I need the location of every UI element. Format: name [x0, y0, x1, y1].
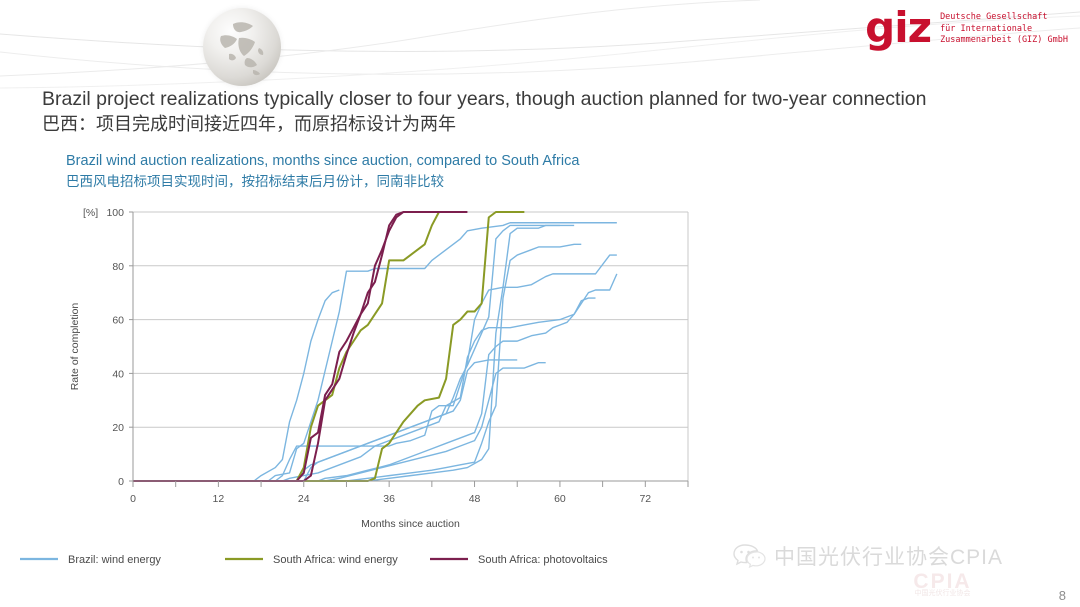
globe-graphic — [203, 8, 281, 86]
giz-logo: giz Deutsche Gesellschaft für Internatio… — [865, 8, 1068, 48]
svg-text:Months since auction: Months since auction — [361, 518, 460, 530]
svg-text:Rate of completion: Rate of completion — [69, 303, 81, 391]
chart-container: 0204060801000122436486072[%]Rate of comp… — [0, 196, 760, 586]
svg-text:0: 0 — [118, 476, 124, 488]
svg-text:[%]: [%] — [83, 207, 98, 219]
giz-tagline: Deutsche Gesellschaft für Internationale… — [940, 9, 1068, 47]
axes — [129, 212, 688, 487]
page-number: 8 — [1059, 588, 1066, 603]
cpia-ghost-mark: CPIA — [855, 570, 1030, 604]
watermark-text: 中国光伏行业协会CPIA — [774, 541, 1003, 571]
slide-title-zh: 巴西：项目完成时间接近四年，而原招标设计为两年 — [42, 112, 1072, 137]
series-lines — [133, 212, 617, 481]
cpia-ghost-subtext: 中国光伏行业协会 — [855, 588, 1030, 598]
line-chart: 0204060801000122436486072[%]Rate of comp… — [0, 196, 760, 586]
svg-text:12: 12 — [213, 493, 225, 505]
svg-text:48: 48 — [469, 493, 481, 505]
svg-text:100: 100 — [106, 207, 124, 219]
svg-text:80: 80 — [112, 261, 124, 273]
chart-title-en: Brazil wind auction realizations, months… — [66, 152, 866, 171]
svg-text:Brazil: wind energy: Brazil: wind energy — [68, 554, 161, 566]
wechat-icon — [733, 543, 767, 569]
svg-text:20: 20 — [112, 422, 124, 434]
svg-text:South Africa: wind energy: South Africa: wind energy — [273, 554, 398, 566]
wechat-watermark: 中国光伏行业协会CPIA — [733, 541, 1003, 571]
svg-text:60: 60 — [112, 315, 124, 327]
svg-text:60: 60 — [554, 493, 566, 505]
chart-subtitle-block: Brazil wind auction realizations, months… — [66, 152, 866, 192]
giz-wordmark: giz — [865, 8, 931, 48]
svg-text:South Africa: photovoltaics: South Africa: photovoltaics — [478, 554, 608, 566]
svg-text:36: 36 — [383, 493, 395, 505]
svg-text:24: 24 — [298, 493, 310, 505]
slide-title-block: Brazil project realizations typically cl… — [42, 87, 1072, 137]
svg-text:0: 0 — [130, 493, 136, 505]
svg-text:40: 40 — [112, 368, 124, 380]
slide-title-en: Brazil project realizations typically cl… — [42, 87, 1072, 111]
chart-title-zh: 巴西风电招标项目实现时间，按招标结束后月份计，同南非比较 — [66, 172, 866, 192]
svg-text:72: 72 — [639, 493, 651, 505]
chart-legend: Brazil: wind energySouth Africa: wind en… — [20, 554, 608, 566]
